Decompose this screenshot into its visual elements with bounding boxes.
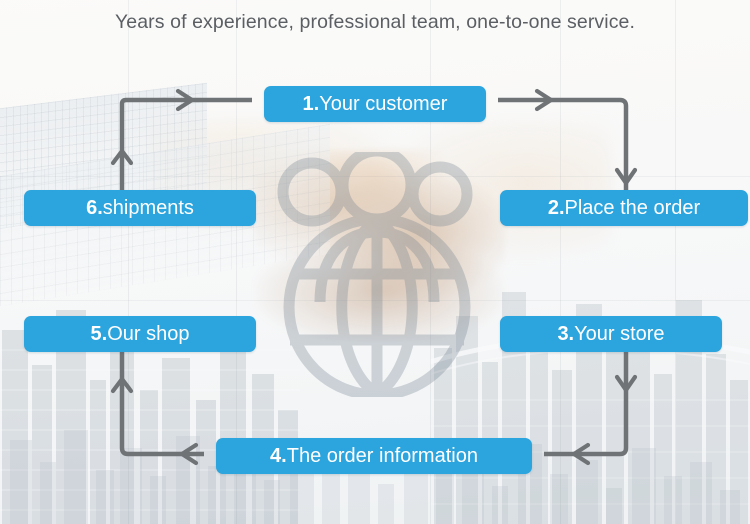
step-number: 2. (548, 197, 565, 220)
step-label: The order information (287, 445, 478, 468)
step-number: 3. (557, 323, 574, 346)
page-title: Years of experience, professional team, … (0, 11, 750, 34)
path-step1-to-step2 (498, 100, 626, 190)
step-number: 1. (303, 93, 320, 116)
step-pill-2-place-the-order[interactable]: 2. Place the order (500, 190, 748, 226)
path-step4-to-step5 (122, 352, 204, 454)
step-label: shipments (103, 197, 194, 220)
step-label: Your store (574, 323, 664, 346)
step-pill-6-shipments[interactable]: 6. shipments (24, 190, 256, 226)
step-pill-1-your-customer[interactable]: 1. Your customer (264, 86, 486, 122)
step-number: 6. (86, 197, 103, 220)
step-label: Your customer (319, 93, 447, 116)
infographic-canvas: Years of experience, professional team, … (0, 0, 750, 524)
step-pill-4-the-order-information[interactable]: 4. The order information (216, 438, 532, 474)
step-pill-3-your-store[interactable]: 3. Your store (500, 316, 722, 352)
step-number: 5. (91, 323, 108, 346)
step-number: 4. (270, 445, 287, 468)
path-step3-to-step4 (544, 352, 626, 454)
path-step6-to-step1 (122, 100, 252, 190)
step-label: Place the order (565, 197, 701, 220)
step-label: Our shop (107, 323, 189, 346)
step-pill-5-our-shop[interactable]: 5. Our shop (24, 316, 256, 352)
